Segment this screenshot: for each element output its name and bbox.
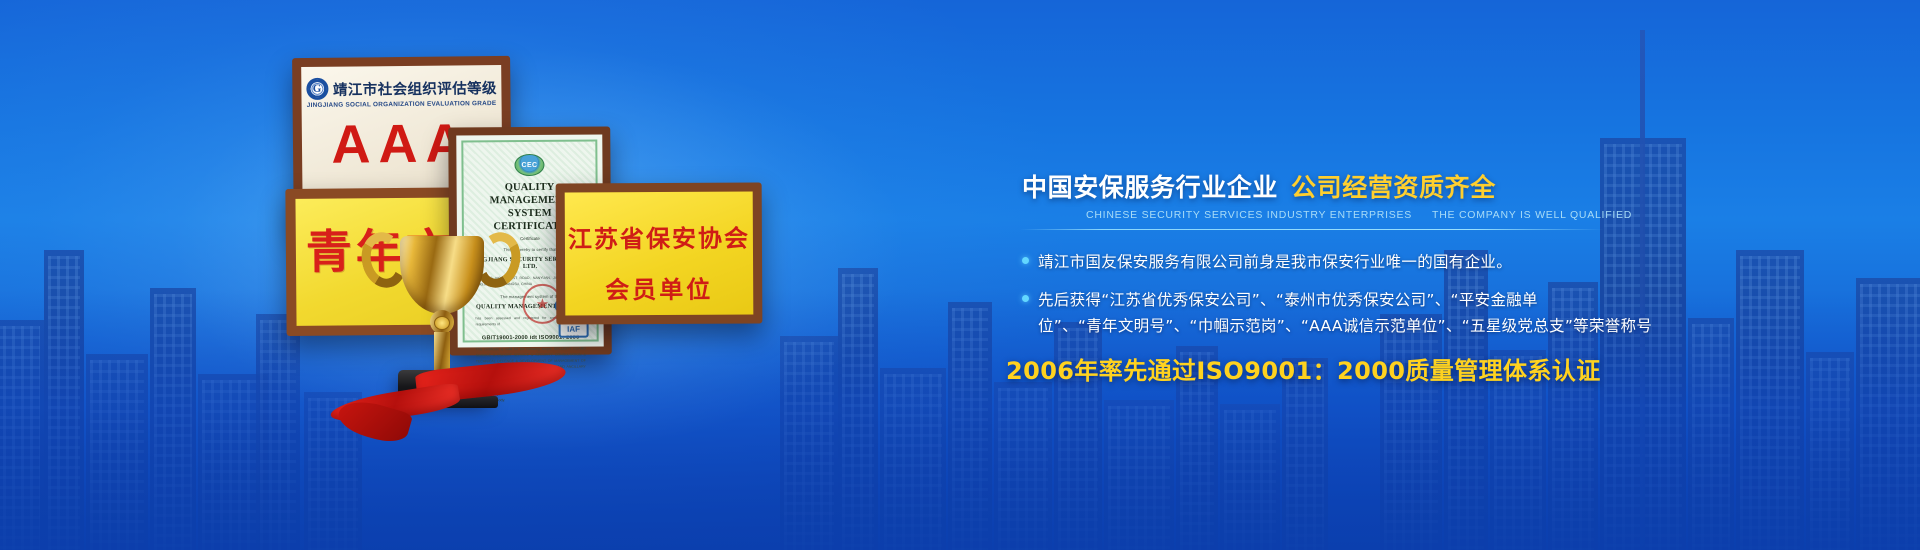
certificate-collage: 靖江市社会组织评估等级 JINGJIANG SOCIAL ORGANIZATIO…: [0, 0, 980, 550]
bullet-1-text: 靖江市国友保安服务有限公司前身是我市保安行业唯一的国有企业。: [1038, 249, 1512, 276]
aaa-cert-org-cn: 靖江市社会组织评估等级: [333, 77, 497, 100]
assoc-plaque-line2: 会员单位: [565, 270, 753, 306]
bullet-2-line1: 先后获得“江苏省优秀保安公司”、“泰州市优秀保安公司”、“平安金融单: [1038, 291, 1538, 309]
assoc-plaque-line1: 江苏省保安协会: [565, 219, 753, 255]
bullet-2-text: 先后获得“江苏省优秀保安公司”、“泰州市优秀保安公司”、“平安金融单 位”、“青…: [1038, 287, 1652, 340]
subtitle-en-left: CHINESE SECURITY SERVICES INDUSTRY ENTER…: [1086, 209, 1412, 221]
jingjiang-seal-icon: [306, 78, 328, 100]
red-ribbon-icon: [330, 348, 560, 426]
gold-trophy-icon: [352, 236, 530, 416]
trophy-medallion: [434, 316, 450, 330]
subtitle-en-right: THE COMPANY IS WELL QUALIFIED: [1432, 209, 1632, 221]
headline-subtitle: CHINESE SECURITY SERVICES INDUSTRY ENTER…: [1022, 209, 1882, 221]
trophy-cup: [400, 236, 484, 314]
headline-cn-white: 中国安保服务行业企业: [1022, 168, 1278, 204]
promotional-banner: 靖江市社会组织评估等级 JINGJIANG SOCIAL ORGANIZATIO…: [0, 0, 1920, 550]
bullet-dot-icon: [1022, 257, 1029, 264]
cec-logo-icon: [514, 154, 544, 176]
bullet-dot-icon: [1022, 295, 1029, 302]
headline: 中国安保服务行业企业 公司经营资质齐全: [1022, 168, 1882, 204]
plaque-security-association-member: 江苏省保安协会 会员单位: [556, 182, 763, 324]
bullet-list: 靖江市国友保安服务有限公司前身是我市保安行业唯一的国有企业。 先后获得“江苏省优…: [1022, 249, 1882, 340]
highlight-iso-certification: 2006年率先通过ISO9001：2000质量管理体系认证: [1006, 351, 1882, 386]
aaa-cert-org-en: JINGJIANG SOCIAL ORGANIZATION EVALUATION…: [302, 100, 502, 109]
headline-cn-gold: 公司经营资质齐全: [1291, 168, 1496, 204]
list-item: 靖江市国友保安服务有限公司前身是我市保安行业唯一的国有企业。: [1022, 249, 1882, 276]
banner-copy: 中国安保服务行业企业 公司经营资质齐全 CHINESE SECURITY SER…: [1022, 168, 1882, 386]
list-item: 先后获得“江苏省优秀保安公司”、“泰州市优秀保安公司”、“平安金融单 位”、“青…: [1022, 287, 1882, 340]
bullet-2-line2: 位”、“青年文明号”、“巾帼示范岗”、“AAA诚信示范单位”、“五星级党总支”等…: [1038, 313, 1652, 340]
divider: [1020, 229, 1604, 230]
